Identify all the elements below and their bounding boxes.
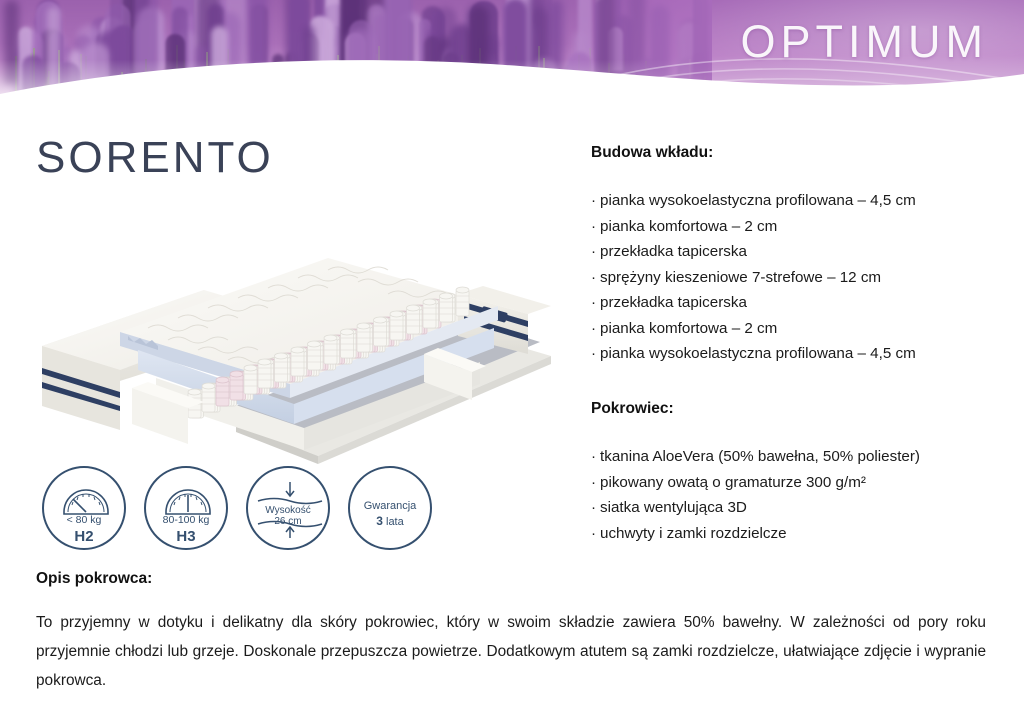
header-white-swoosh bbox=[0, 48, 1024, 124]
cover-section: Pokrowiec: ·tkanina AloeVera (50% bawełn… bbox=[591, 400, 1011, 546]
pocket-spring bbox=[423, 302, 436, 328]
bullet-icon: · bbox=[591, 265, 600, 291]
pocket-spring bbox=[308, 344, 321, 370]
pocket-spring-cap bbox=[202, 383, 215, 389]
product-image bbox=[28, 228, 568, 468]
pocket-spring-cap bbox=[341, 329, 354, 335]
construction-item: ·sprężyny kieszeniowe 7-strefowe – 12 cm bbox=[591, 265, 1011, 291]
pocket-spring bbox=[275, 356, 288, 382]
pocket-spring-cap bbox=[407, 305, 420, 311]
cover-heading: Pokrowiec: bbox=[591, 400, 1011, 418]
spec-text: uchwyty i zamki rozdzielcze bbox=[600, 525, 787, 542]
pocket-spring-cap bbox=[440, 293, 453, 299]
bullet-icon: · bbox=[591, 188, 600, 214]
pocket-spring bbox=[440, 296, 453, 322]
pocket-spring bbox=[341, 332, 354, 358]
pocket-spring bbox=[244, 368, 257, 394]
description-text: To przyjemny w dotyku i delikatny dla sk… bbox=[36, 608, 986, 695]
pocket-spring bbox=[374, 320, 387, 346]
badge-weight-label: 80-100 kg bbox=[146, 514, 226, 526]
pocket-spring-cap bbox=[324, 335, 337, 341]
pocket-spring-cap bbox=[423, 299, 436, 305]
badge-hardness-h2: < 80 kg H2 bbox=[42, 466, 126, 550]
page-header: OPTIMUM bbox=[0, 0, 1024, 124]
spec-text: pianka wysokoelastyczna profilowana – 4,… bbox=[600, 192, 916, 209]
pocket-spring-cap bbox=[188, 389, 201, 395]
cover-item: ·tkanina AloeVera (50% bawełna, 50% poli… bbox=[591, 444, 1011, 470]
bullet-icon: · bbox=[591, 495, 600, 521]
bullet-icon: · bbox=[591, 316, 600, 342]
pocket-spring-cap bbox=[390, 311, 403, 317]
pocket-spring bbox=[357, 326, 370, 352]
spec-text: pianka wysokoelastyczna profilowana – 4,… bbox=[600, 345, 916, 362]
badge-height-label: Wysokość bbox=[248, 505, 328, 517]
pocket-spring-cap bbox=[357, 323, 370, 329]
construction-item: ·pianka komfortowa – 2 cm bbox=[591, 316, 1011, 342]
spec-text: tkanina AloeVera (50% bawełna, 50% polie… bbox=[600, 448, 920, 465]
construction-item: ·przekładka tapicerska bbox=[591, 290, 1011, 316]
bullet-icon: · bbox=[591, 444, 600, 470]
construction-heading: Budowa wkładu: bbox=[591, 144, 1011, 162]
feature-badges: < 80 kg H2 80-100 kg H3 Wysokość 26 cm bbox=[42, 466, 432, 550]
pocket-spring bbox=[258, 362, 271, 388]
description-heading: Opis pokrowca: bbox=[36, 570, 152, 588]
bullet-icon: · bbox=[591, 521, 600, 547]
pocket-spring bbox=[202, 386, 215, 412]
spec-text: przekładka tapicerska bbox=[600, 294, 747, 311]
construction-section: Budowa wkładu: ·pianka wysokoelastyczna … bbox=[591, 144, 1011, 367]
pocket-spring-cap bbox=[216, 377, 229, 383]
construction-item: ·pianka wysokoelastyczna profilowana – 4… bbox=[591, 188, 1011, 214]
bullet-icon: · bbox=[591, 239, 600, 265]
page-title: SORENTO bbox=[36, 133, 274, 183]
pocket-spring bbox=[324, 338, 337, 364]
badge-weight-label: < 80 kg bbox=[44, 514, 124, 526]
badge-height-value: 26 cm bbox=[248, 516, 328, 528]
pocket-spring-cap bbox=[275, 353, 288, 359]
cover-list: ·tkanina AloeVera (50% bawełna, 50% poli… bbox=[591, 444, 1011, 546]
badge-warranty-years: 3 bbox=[376, 514, 383, 528]
badge-hardness-level: H2 bbox=[44, 528, 124, 545]
spec-text: pianka komfortowa – 2 cm bbox=[600, 218, 777, 235]
badge-height: Wysokość 26 cm bbox=[246, 466, 330, 550]
badge-hardness-h3: 80-100 kg H3 bbox=[144, 466, 228, 550]
bullet-icon: · bbox=[591, 290, 600, 316]
pocket-spring bbox=[456, 290, 469, 316]
spec-text: sprężyny kieszeniowe 7-strefowe – 12 cm bbox=[600, 269, 881, 286]
pocket-spring bbox=[407, 308, 420, 334]
cover-item: ·siatka wentylująca 3D bbox=[591, 495, 1011, 521]
pocket-spring bbox=[216, 380, 229, 406]
pocket-spring bbox=[230, 374, 243, 400]
spec-text: pikowany owatą o gramaturze 300 g/m² bbox=[600, 474, 866, 491]
badge-hardness-level: H3 bbox=[146, 528, 226, 545]
pocket-spring-cap bbox=[258, 359, 271, 365]
badge-warranty-label: Gwarancja bbox=[350, 500, 430, 513]
pocket-spring-cap bbox=[374, 317, 387, 323]
pocket-spring bbox=[390, 314, 403, 340]
pocket-spring-cap bbox=[291, 347, 304, 353]
badge-warranty-unit: lata bbox=[386, 516, 404, 528]
construction-item: ·pianka wysokoelastyczna profilowana – 4… bbox=[591, 341, 1011, 367]
bullet-icon: · bbox=[591, 470, 600, 496]
bullet-icon: · bbox=[591, 214, 600, 240]
pocket-spring-cap bbox=[230, 371, 243, 377]
construction-item: ·przekładka tapicerska bbox=[591, 239, 1011, 265]
construction-list: ·pianka wysokoelastyczna profilowana – 4… bbox=[591, 188, 1011, 367]
pocket-spring-cap bbox=[456, 287, 469, 293]
pocket-spring bbox=[291, 350, 304, 376]
bullet-icon: · bbox=[591, 341, 600, 367]
badge-warranty: Gwarancja 3 lata bbox=[348, 466, 432, 550]
badge-warranty-period: 3 lata bbox=[350, 515, 430, 529]
spec-text: przekładka tapicerska bbox=[600, 243, 747, 260]
cover-item: ·pikowany owatą o gramaturze 300 g/m² bbox=[591, 470, 1011, 496]
spec-text: siatka wentylująca 3D bbox=[600, 499, 747, 516]
spec-text: pianka komfortowa – 2 cm bbox=[600, 320, 777, 337]
cover-item: ·uchwyty i zamki rozdzielcze bbox=[591, 521, 1011, 547]
pocket-spring-cap bbox=[308, 341, 321, 347]
pocket-spring-cap bbox=[244, 365, 257, 371]
construction-item: ·pianka komfortowa – 2 cm bbox=[591, 214, 1011, 240]
